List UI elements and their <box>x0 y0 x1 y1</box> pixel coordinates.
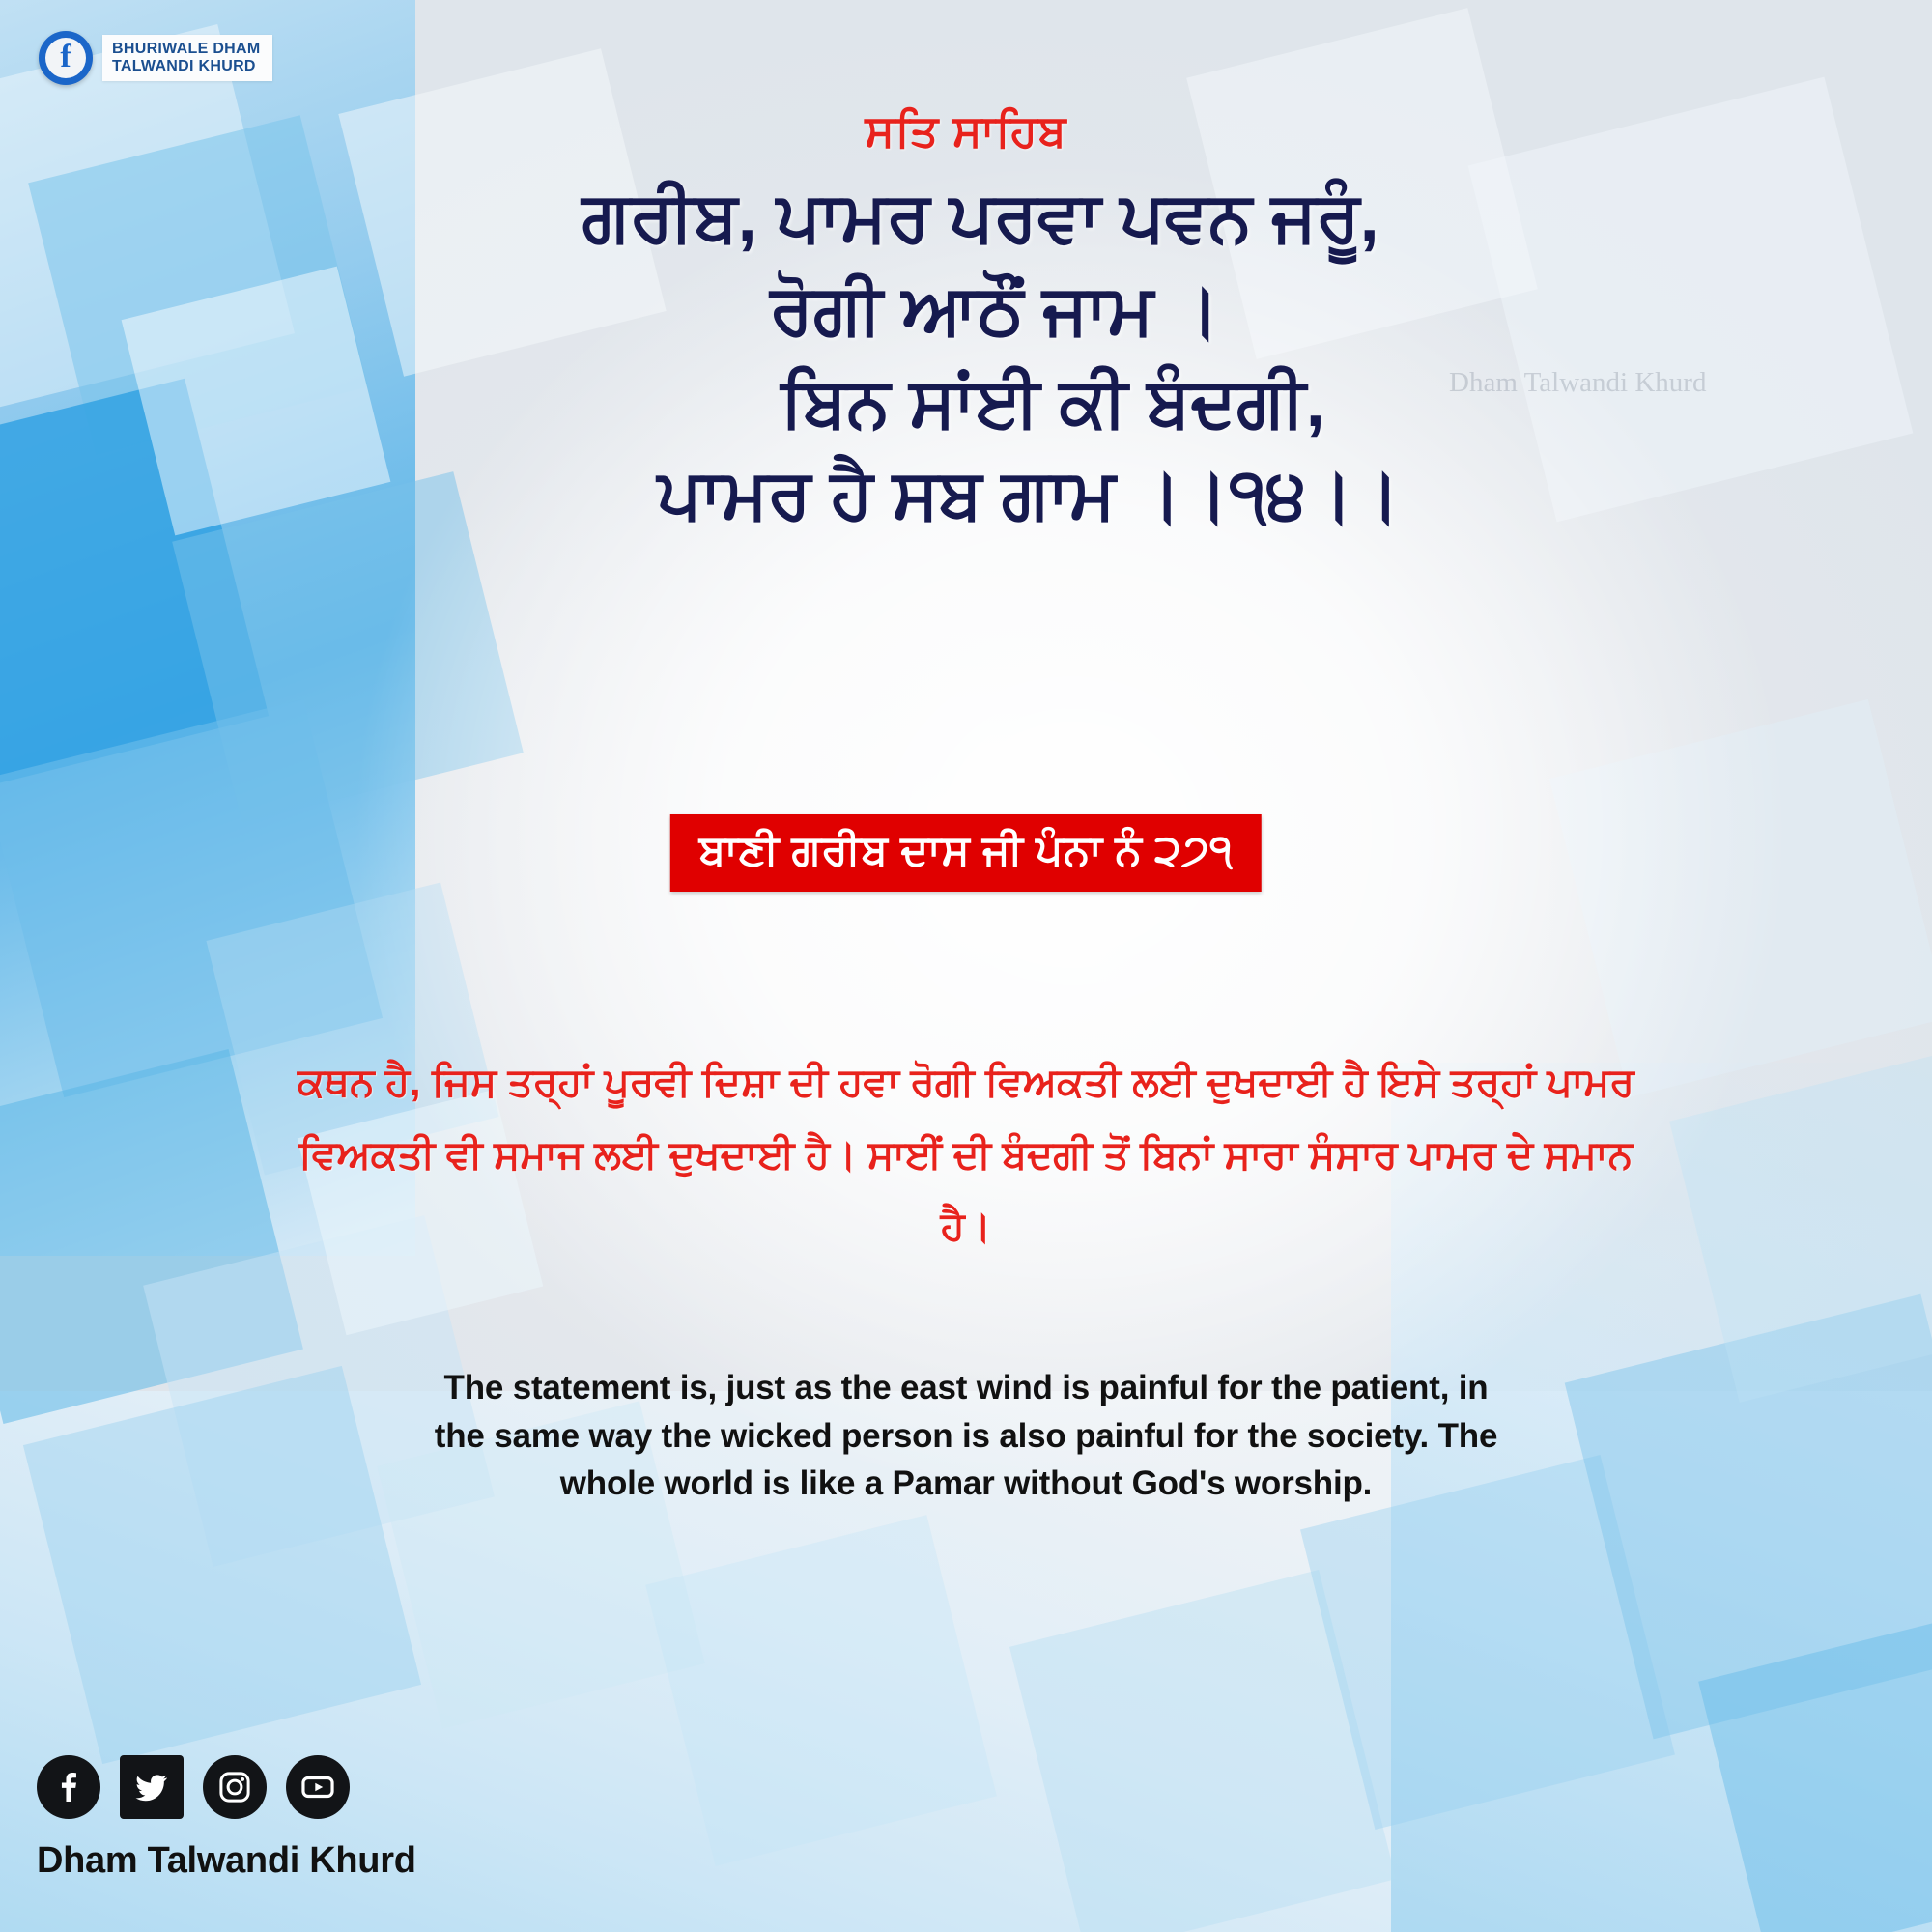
social-icon-row <box>37 1755 416 1819</box>
main-content: ਸਤਿ ਸਾਹਿਬ ਗਰੀਬ, ਪਾਮਰ ਪਰਵਾ ਪਵਨ ਜਰੂੰ, ਰੋਗੀ… <box>0 0 1932 1932</box>
footer: Dham Talwandi Khurd <box>37 1755 416 1882</box>
watermark-text: Dham Talwandi Khurd <box>1449 367 1706 399</box>
verse-block: ਗਰੀਬ, ਪਾਮਰ ਪਰਵਾ ਪਵਨ ਜਰੂੰ, ਰੋਗੀ ਆਠੌਂ ਜਾਮ … <box>0 172 1932 542</box>
punjabi-explanation: ਕਥਨ ਹੈ, ਜਿਸ ਤਰ੍ਹਾਂ ਪੂਰਵੀ ਦਿਸ਼ਾ ਦੀ ਹਵਾ ਰੋ… <box>280 1046 1652 1263</box>
reference-banner-text: ਬਾਣੀ ਗਰੀਬ ਦਾਸ ਜੀ ਪੰਨਾ ਨੰ ੨੭੧ <box>699 830 1233 872</box>
verse-line: ਰੋਗੀ ਆਠੌਂ ਜਾਮ । <box>0 265 1932 357</box>
page-name-label: BHURIWALE DHAM TALWANDI KHURD <box>102 35 272 82</box>
instagram-icon[interactable] <box>203 1755 267 1819</box>
youtube-icon[interactable] <box>286 1755 350 1819</box>
facebook-page-badge[interactable]: f BHURIWALE DHAM TALWANDI KHURD <box>39 31 272 85</box>
english-explanation: The statement is, just as the east wind … <box>425 1364 1507 1508</box>
facebook-icon: f <box>39 31 93 85</box>
verse-line: ਪਾਮਰ ਹੈ ਸਬ ਗਾਮ ।।੧੪।। <box>0 449 1932 542</box>
page-name-line-1: BHURIWALE DHAM <box>112 41 261 58</box>
footer-page-name: Dham Talwandi Khurd <box>37 1840 416 1882</box>
facebook-icon-inner: f <box>45 38 86 78</box>
twitter-icon[interactable] <box>120 1755 184 1819</box>
page-name-line-2: TALWANDI KHURD <box>112 58 261 75</box>
facebook-icon[interactable] <box>37 1755 100 1819</box>
verse-line: ਗਰੀਬ, ਪਾਮਰ ਪਰਵਾ ਪਵਨ ਜਰੂੰ, <box>0 172 1932 265</box>
greeting-text: ਸਤਿ ਸਾਹਿਬ <box>0 104 1932 158</box>
facebook-f-glyph: f <box>60 41 71 73</box>
reference-banner: ਬਾਣੀ ਗਰੀਬ ਦਾਸ ਜੀ ਪੰਨਾ ਨੰ ੨੭੧ <box>670 814 1262 892</box>
